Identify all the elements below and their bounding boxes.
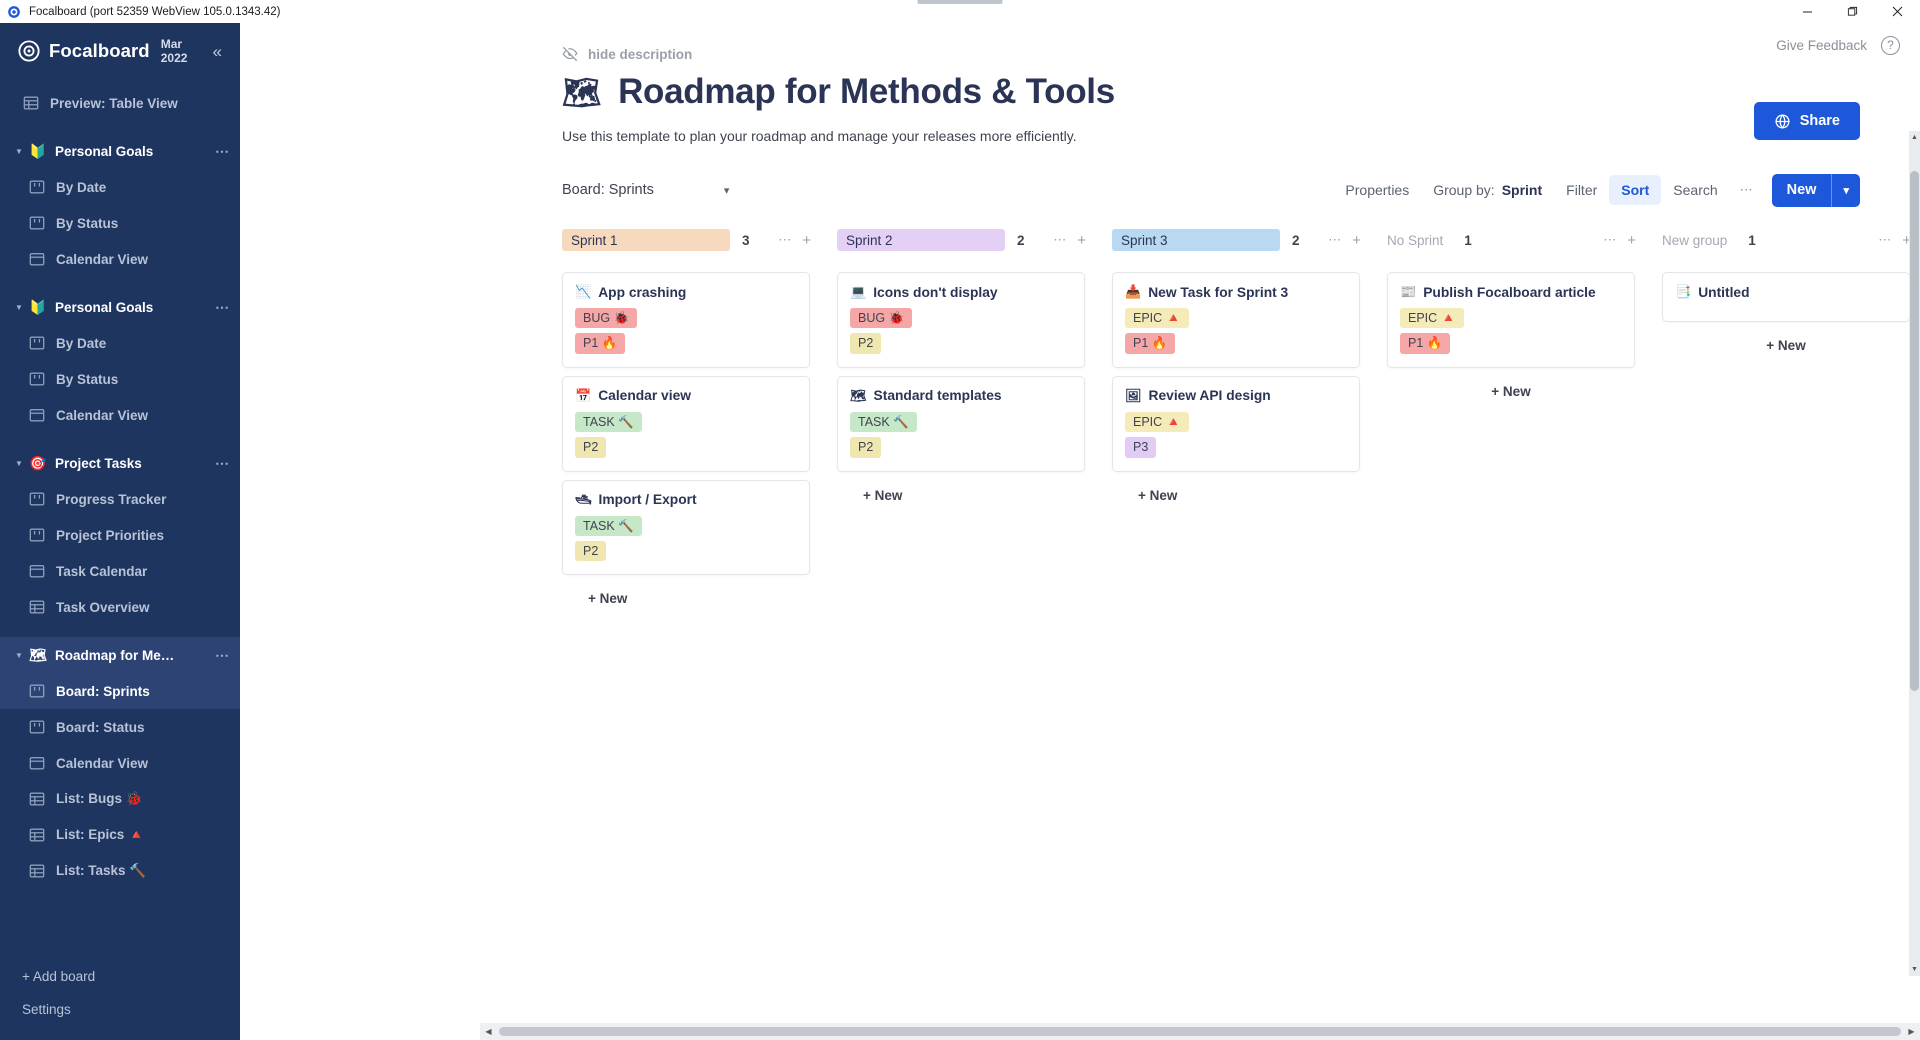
sidebar-item-list-bugs[interactable]: List: Bugs 🐞 — [0, 781, 240, 817]
status-badge: EPIC 🔺 — [1400, 308, 1464, 328]
new-card-label: New — [1772, 182, 1832, 198]
sidebar-item-task-overview[interactable]: Task Overview — [0, 589, 240, 625]
status-badge: P2 — [575, 541, 606, 561]
group-by-button[interactable]: Group by: Sprint — [1421, 175, 1554, 205]
sidebar-item-progress-tracker[interactable]: Progress Tracker — [0, 481, 240, 517]
group-card-count: 2 — [1292, 233, 1300, 248]
sidebar-board-personal-goals[interactable]: ▼🔰Personal Goals⋯ — [0, 289, 240, 325]
settings-button[interactable]: Settings — [0, 993, 240, 1026]
card-title-text: Calendar view — [598, 388, 691, 403]
add-new-card-button[interactable]: + New — [1662, 330, 1910, 353]
hide-description-label: hide description — [588, 47, 692, 62]
group-title-chip[interactable]: Sprint 1 — [562, 229, 730, 251]
card-title-text: Publish Focalboard article — [1423, 285, 1596, 300]
kanban-card[interactable]: 📰Publish Focalboard articleEPIC 🔺P1 🔥 — [1387, 272, 1635, 368]
sidebar-item-list-epics[interactable]: List: Epics 🔺 — [0, 817, 240, 853]
group-header-actions: ⋯+ — [1328, 232, 1361, 249]
kanban-column-header: No Sprint1⋯+ — [1387, 226, 1662, 254]
sidebar-item-label: Board: Sprints — [56, 684, 150, 699]
kanban-column-header: Sprint 13⋯+ — [562, 226, 837, 254]
window-controls — [1785, 0, 1920, 23]
kanban-card[interactable]: 📑Untitled — [1662, 272, 1910, 322]
card-title: 📅Calendar view — [575, 388, 797, 404]
sidebar-item-label: Task Overview — [56, 600, 150, 615]
group-options-icon[interactable]: ⋯ — [778, 232, 792, 248]
kanban-column-sprint-1: Sprint 13⋯+📉App crashingBUG 🐞P1 🔥📅Calend… — [562, 226, 837, 606]
share-label: Share — [1800, 113, 1840, 129]
chevron-down-icon[interactable]: ▼ — [12, 651, 26, 660]
sidebar-item-label: By Status — [56, 216, 118, 231]
sidebar-item-by-date[interactable]: By Date — [0, 325, 240, 361]
sidebar-item-by-status[interactable]: By Status — [0, 205, 240, 241]
sidebar-item-calendar-view[interactable]: Calendar View — [0, 745, 240, 781]
status-badge: TASK 🔨 — [575, 412, 642, 432]
scroll-up-icon[interactable]: ▲ — [1909, 131, 1920, 144]
sidebar-board-personal-goals[interactable]: ▼🔰Personal Goals⋯ — [0, 133, 240, 169]
card-badges: BUG 🐞P2 — [850, 308, 1072, 354]
table-icon — [28, 827, 45, 844]
sidebar-header: Focalboard Mar 2022 « — [0, 23, 240, 79]
app-shell: Focalboard Mar 2022 « Preview: Table Vie… — [0, 23, 1920, 1040]
status-badge: P1 🔥 — [1125, 333, 1175, 353]
status-badge: P3 — [1125, 437, 1156, 457]
card-title-text: App crashing — [598, 285, 686, 300]
sidebar-board-label: Roadmap for Me… — [55, 648, 174, 663]
group-header-actions: ⋯+ — [1053, 232, 1086, 249]
status-badge: P2 — [575, 437, 606, 457]
add-new-card-button[interactable]: + New — [1387, 376, 1635, 399]
board-icon — [28, 335, 45, 352]
maximize-icon[interactable] — [1830, 0, 1875, 23]
card-badges: BUG 🐞P1 🔥 — [575, 308, 797, 354]
card-badges: EPIC 🔺P1 🔥 — [1125, 308, 1347, 354]
board-icon — [28, 527, 45, 544]
card-title: 💻Icons don't display — [850, 284, 1072, 300]
add-card-icon[interactable]: + — [1077, 232, 1086, 249]
group-title-chip[interactable]: Sprint 2 — [837, 229, 1005, 251]
board-title-text[interactable]: Roadmap for Methods & Tools — [618, 72, 1115, 112]
board-options-icon[interactable]: ⋯ — [207, 143, 230, 160]
kanban-column-new-group: New group1⋯+📑Untitled+ New — [1662, 226, 1920, 353]
sidebar-item-by-date[interactable]: By Date — [0, 169, 240, 205]
chevron-down-icon[interactable]: ▼ — [12, 303, 26, 312]
sidebar-item-calendar-view[interactable]: Calendar View — [0, 241, 240, 277]
add-card-icon[interactable]: + — [802, 232, 811, 249]
calendar-icon — [28, 251, 45, 268]
window-title: Focalboard (port 52359 WebView 105.0.134… — [29, 6, 280, 18]
scroll-down-icon[interactable]: ▼ — [1909, 963, 1920, 976]
collapse-sidebar-icon[interactable]: « — [209, 39, 226, 64]
sidebar-item-label: Progress Tracker — [56, 492, 166, 507]
kanban-column-header: New group1⋯+ — [1662, 226, 1920, 254]
status-badge: P1 🔥 — [575, 333, 625, 353]
sidebar-board-roadmap-for-me[interactable]: ▼🗺Roadmap for Me…⋯ — [0, 637, 240, 673]
sidebar-brand: Focalboard — [49, 40, 150, 62]
calendar-icon — [28, 407, 45, 424]
sidebar-footer: + Add board Settings — [0, 960, 240, 1040]
board-icon — [28, 215, 45, 232]
group-title-chip[interactable]: New group — [1662, 229, 1736, 251]
group-card-count: 1 — [1464, 233, 1472, 248]
add-new-card-button[interactable]: + New — [1112, 480, 1387, 503]
status-badge: EPIC 🔺 — [1125, 412, 1189, 432]
sidebar-item-label: Preview: Table View — [50, 96, 178, 111]
sidebar-item-board-sprints[interactable]: Board: Sprints — [0, 673, 240, 709]
kanban-card[interactable]: 🛥Import / ExportTASK 🔨P2 — [562, 480, 810, 576]
kanban-scroll-area: Sprint 13⋯+📉App crashingBUG 🐞P1 🔥📅Calend… — [240, 208, 1920, 1040]
sidebar-board-group: ▼🎯Project Tasks⋯Progress TrackerProject … — [0, 445, 240, 625]
sort-button[interactable]: Sort — [1609, 175, 1661, 205]
eye-off-icon — [561, 45, 579, 63]
status-badge: BUG 🐞 — [575, 308, 637, 328]
table-icon — [22, 95, 39, 112]
focalboard-app-icon — [7, 5, 21, 19]
card-emoji-icon: 🗺 — [850, 388, 867, 404]
chevron-down-icon[interactable]: ▼ — [12, 147, 26, 156]
group-header-actions: ⋯+ — [1603, 232, 1636, 249]
card-badges: TASK 🔨P2 — [850, 412, 1072, 458]
table-icon — [28, 863, 45, 880]
sidebar-board-group: ▼🗺Roadmap for Me…⋯Board: SprintsBoard: S… — [0, 637, 240, 889]
card-title-text: Untitled — [1698, 285, 1749, 300]
sidebar-board-label: Project Tasks — [55, 456, 142, 471]
group-by-label: Group by: — [1433, 182, 1494, 198]
sidebar-item-board-status[interactable]: Board: Status — [0, 709, 240, 745]
search-button[interactable]: Search — [1661, 175, 1729, 205]
kanban-card[interactable]: 💻Icons don't displayBUG 🐞P2 — [837, 272, 1085, 368]
card-emoji-icon: 🖼 — [1125, 388, 1142, 404]
board-icon — [28, 683, 45, 700]
kanban-card[interactable]: 🗺Standard templatesTASK 🔨P2 — [837, 376, 1085, 472]
sidebar-item-label: List: Tasks 🔨 — [56, 863, 146, 879]
card-title-text: Review API design — [1149, 388, 1271, 403]
card-badges: TASK 🔨P2 — [575, 412, 797, 458]
scroll-left-icon[interactable]: ◀ — [480, 1027, 497, 1036]
board-description: Use this template to plan your roadmap a… — [562, 128, 1920, 144]
card-title: 🗺Standard templates — [850, 388, 1072, 404]
sidebar-item-label: Task Calendar — [56, 564, 147, 579]
sidebar-version: Mar 2022 — [161, 37, 200, 65]
card-emoji-icon: 📰 — [1400, 284, 1416, 300]
sidebar-board-group: ▼🔰Personal Goals⋯By DateBy StatusCalenda… — [0, 289, 240, 433]
board-emoji-icon[interactable]: 🗺 — [562, 77, 601, 108]
sidebar-item-by-status[interactable]: By Status — [0, 361, 240, 397]
calendar-icon — [28, 563, 45, 580]
status-badge: P2 — [850, 333, 881, 353]
group-header-actions: ⋯+ — [778, 232, 811, 249]
status-badge: TASK 🔨 — [575, 516, 642, 536]
card-emoji-icon: 🛥 — [575, 492, 592, 508]
kanban-column-header: Sprint 22⋯+ — [837, 226, 1112, 254]
add-new-card-button[interactable]: + New — [837, 480, 1112, 503]
card-title-text: Standard templates — [874, 388, 1002, 403]
add-board-button[interactable]: + Add board — [0, 960, 240, 993]
kanban-card[interactable]: 📉App crashingBUG 🐞P1 🔥 — [562, 272, 810, 368]
card-emoji-icon: 💻 — [850, 284, 866, 300]
status-badge: TASK 🔨 — [850, 412, 917, 432]
sidebar-item-label: List: Epics 🔺 — [56, 827, 145, 843]
card-badges: EPIC 🔺P3 — [1125, 412, 1347, 458]
sidebar-scrollbar-thumb[interactable] — [1910, 171, 1919, 691]
sidebar-board-project-tasks[interactable]: ▼🎯Project Tasks⋯ — [0, 445, 240, 481]
status-badge: P1 🔥 — [1400, 333, 1450, 353]
sidebar-item-label: Calendar View — [56, 756, 148, 771]
add-card-icon[interactable]: + — [1627, 232, 1636, 249]
sidebar-scroll-area: Preview: Table View▼🔰Personal Goals⋯By D… — [0, 79, 240, 960]
share-button[interactable]: Share — [1754, 102, 1860, 140]
window-titlebar: Focalboard (port 52359 WebView 105.0.134… — [0, 0, 1920, 23]
sidebar-scrollbar[interactable]: ▲ ▼ — [1909, 131, 1920, 976]
group-card-count: 2 — [1017, 233, 1025, 248]
board-icon — [28, 491, 45, 508]
sidebar-item-label: Calendar View — [56, 252, 148, 267]
sidebar-item-task-calendar[interactable]: Task Calendar — [0, 553, 240, 589]
trophy-icon: 🔰 — [28, 299, 48, 316]
add-card-icon[interactable]: + — [1352, 232, 1361, 249]
card-title: 🛥Import / Export — [575, 492, 797, 508]
group-options-icon[interactable]: ⋯ — [1603, 232, 1617, 248]
horizontal-scrollbar-thumb[interactable] — [499, 1027, 1901, 1036]
group-header-actions: ⋯+ — [1878, 232, 1911, 249]
chevron-down-icon: ▾ — [724, 184, 730, 197]
card-title-text: Import / Export — [599, 492, 697, 507]
add-new-card-button[interactable]: + New — [562, 583, 837, 606]
map-icon: 🗺 — [28, 647, 48, 664]
sidebar-item-label: Calendar View — [56, 408, 148, 423]
kanban-card[interactable]: 🖼Review API designEPIC 🔺P3 — [1112, 376, 1360, 472]
kanban-board: Sprint 13⋯+📉App crashingBUG 🐞P1 🔥📅Calend… — [562, 226, 1920, 606]
kanban-column-no-sprint: No Sprint1⋯+📰Publish Focalboard articleE… — [1387, 226, 1662, 399]
board-icon — [28, 719, 45, 736]
table-icon — [28, 791, 45, 808]
group-options-icon[interactable]: ⋯ — [1328, 232, 1342, 248]
group-card-count: 3 — [742, 233, 750, 248]
sidebar-item-list-tasks[interactable]: List: Tasks 🔨 — [0, 853, 240, 889]
sidebar-item-label: By Status — [56, 372, 118, 387]
board-icon — [28, 179, 45, 196]
group-options-icon[interactable]: ⋯ — [1053, 232, 1067, 248]
card-title: 📑Untitled — [1675, 284, 1897, 300]
card-title: 🖼Review API design — [1125, 388, 1347, 404]
filter-button[interactable]: Filter — [1554, 175, 1609, 205]
properties-button[interactable]: Properties — [1333, 175, 1421, 205]
main-content: Give Feedback ? hide description 🗺 Roadm… — [240, 23, 1920, 1040]
board-icon — [28, 371, 45, 388]
page-title: 🗺 Roadmap for Methods & Tools — [562, 72, 1920, 112]
board-options-icon[interactable]: ⋯ — [207, 647, 230, 664]
card-emoji-icon: 📥 — [1125, 284, 1141, 300]
new-card-button[interactable]: New ▾ — [1772, 174, 1860, 207]
group-title-chip[interactable]: No Sprint — [1387, 229, 1452, 251]
card-title-text: Icons don't display — [873, 285, 997, 300]
sidebar-item-label: By Date — [56, 336, 106, 351]
target-icon: 🎯 — [28, 455, 48, 472]
sidebar-item-calendar-view[interactable]: Calendar View — [0, 397, 240, 433]
more-options-icon[interactable]: ⋯ — [1730, 175, 1764, 205]
kanban-card[interactable]: 📥New Task for Sprint 3EPIC 🔺P1 🔥 — [1112, 272, 1360, 368]
group-card-count: 1 — [1748, 233, 1756, 248]
card-badges: EPIC 🔺P1 🔥 — [1400, 308, 1622, 354]
status-badge: BUG 🐞 — [850, 308, 912, 328]
group-title-chip[interactable]: Sprint 3 — [1112, 229, 1280, 251]
calendar-icon — [28, 755, 45, 772]
view-toolbar: Board: Sprints ▾ Properties Group by: Sp… — [562, 172, 1920, 208]
sidebar-board-label: Personal Goals — [55, 300, 153, 315]
focalboard-logo-icon — [18, 40, 40, 62]
sidebar-board-group: ▼🔰Personal Goals⋯By DateBy StatusCalenda… — [0, 133, 240, 277]
table-icon — [28, 599, 45, 616]
board-options-icon[interactable]: ⋯ — [207, 455, 230, 472]
board-header: hide description 🗺 Roadmap for Methods &… — [240, 67, 1920, 144]
hide-description-button[interactable]: hide description — [561, 45, 1920, 63]
close-icon[interactable] — [1875, 0, 1920, 23]
new-button-chevron-down-icon[interactable]: ▾ — [1832, 184, 1860, 197]
sidebar: Focalboard Mar 2022 « Preview: Table Vie… — [0, 23, 240, 1040]
status-badge: P2 — [850, 437, 881, 457]
card-emoji-icon: 📅 — [575, 388, 591, 404]
sidebar-item-label: By Date — [56, 180, 106, 195]
card-badges: TASK 🔨P2 — [575, 516, 797, 562]
scroll-right-icon[interactable]: ▶ — [1903, 1027, 1920, 1036]
card-emoji-icon: 📉 — [575, 284, 591, 300]
card-title-text: New Task for Sprint 3 — [1148, 285, 1288, 300]
toolbar-actions: Properties Group by: Sprint Filter Sort … — [1333, 174, 1860, 207]
kanban-column-sprint-3: Sprint 32⋯+📥New Task for Sprint 3EPIC 🔺P… — [1112, 226, 1387, 503]
card-emoji-icon: 📑 — [1675, 284, 1691, 300]
sidebar-board-label: Personal Goals — [55, 144, 153, 159]
view-selector[interactable]: Board: Sprints ▾ — [562, 182, 762, 198]
horizontal-scrollbar[interactable]: ◀ ▶ — [480, 1023, 1920, 1040]
sidebar-item-project-priorities[interactable]: Project Priorities — [0, 517, 240, 553]
sidebar-item-preview-table-view[interactable]: Preview: Table View — [0, 85, 240, 121]
card-title: 📉App crashing — [575, 284, 797, 300]
view-selector-label: Board: Sprints — [562, 182, 654, 198]
kanban-column-sprint-2: Sprint 22⋯+💻Icons don't displayBUG 🐞P2🗺S… — [837, 226, 1112, 503]
sidebar-item-label: Board: Status — [56, 720, 145, 735]
kanban-card[interactable]: 📅Calendar viewTASK 🔨P2 — [562, 376, 810, 472]
sidebar-item-label: Project Priorities — [56, 528, 164, 543]
chevron-down-icon[interactable]: ▼ — [12, 459, 26, 468]
kanban-column-header: Sprint 32⋯+ — [1112, 226, 1387, 254]
globe-icon — [1774, 113, 1791, 130]
card-title: 📰Publish Focalboard article — [1400, 284, 1622, 300]
minimize-icon[interactable] — [1785, 0, 1830, 23]
group-options-icon[interactable]: ⋯ — [1878, 232, 1892, 248]
trophy-icon: 🔰 — [28, 143, 48, 160]
sidebar-item-label: List: Bugs 🐞 — [56, 791, 143, 807]
window-drag-nub[interactable] — [918, 0, 1003, 4]
status-badge: EPIC 🔺 — [1125, 308, 1189, 328]
card-title: 📥New Task for Sprint 3 — [1125, 284, 1347, 300]
group-by-value: Sprint — [1502, 182, 1542, 198]
board-options-icon[interactable]: ⋯ — [207, 299, 230, 316]
